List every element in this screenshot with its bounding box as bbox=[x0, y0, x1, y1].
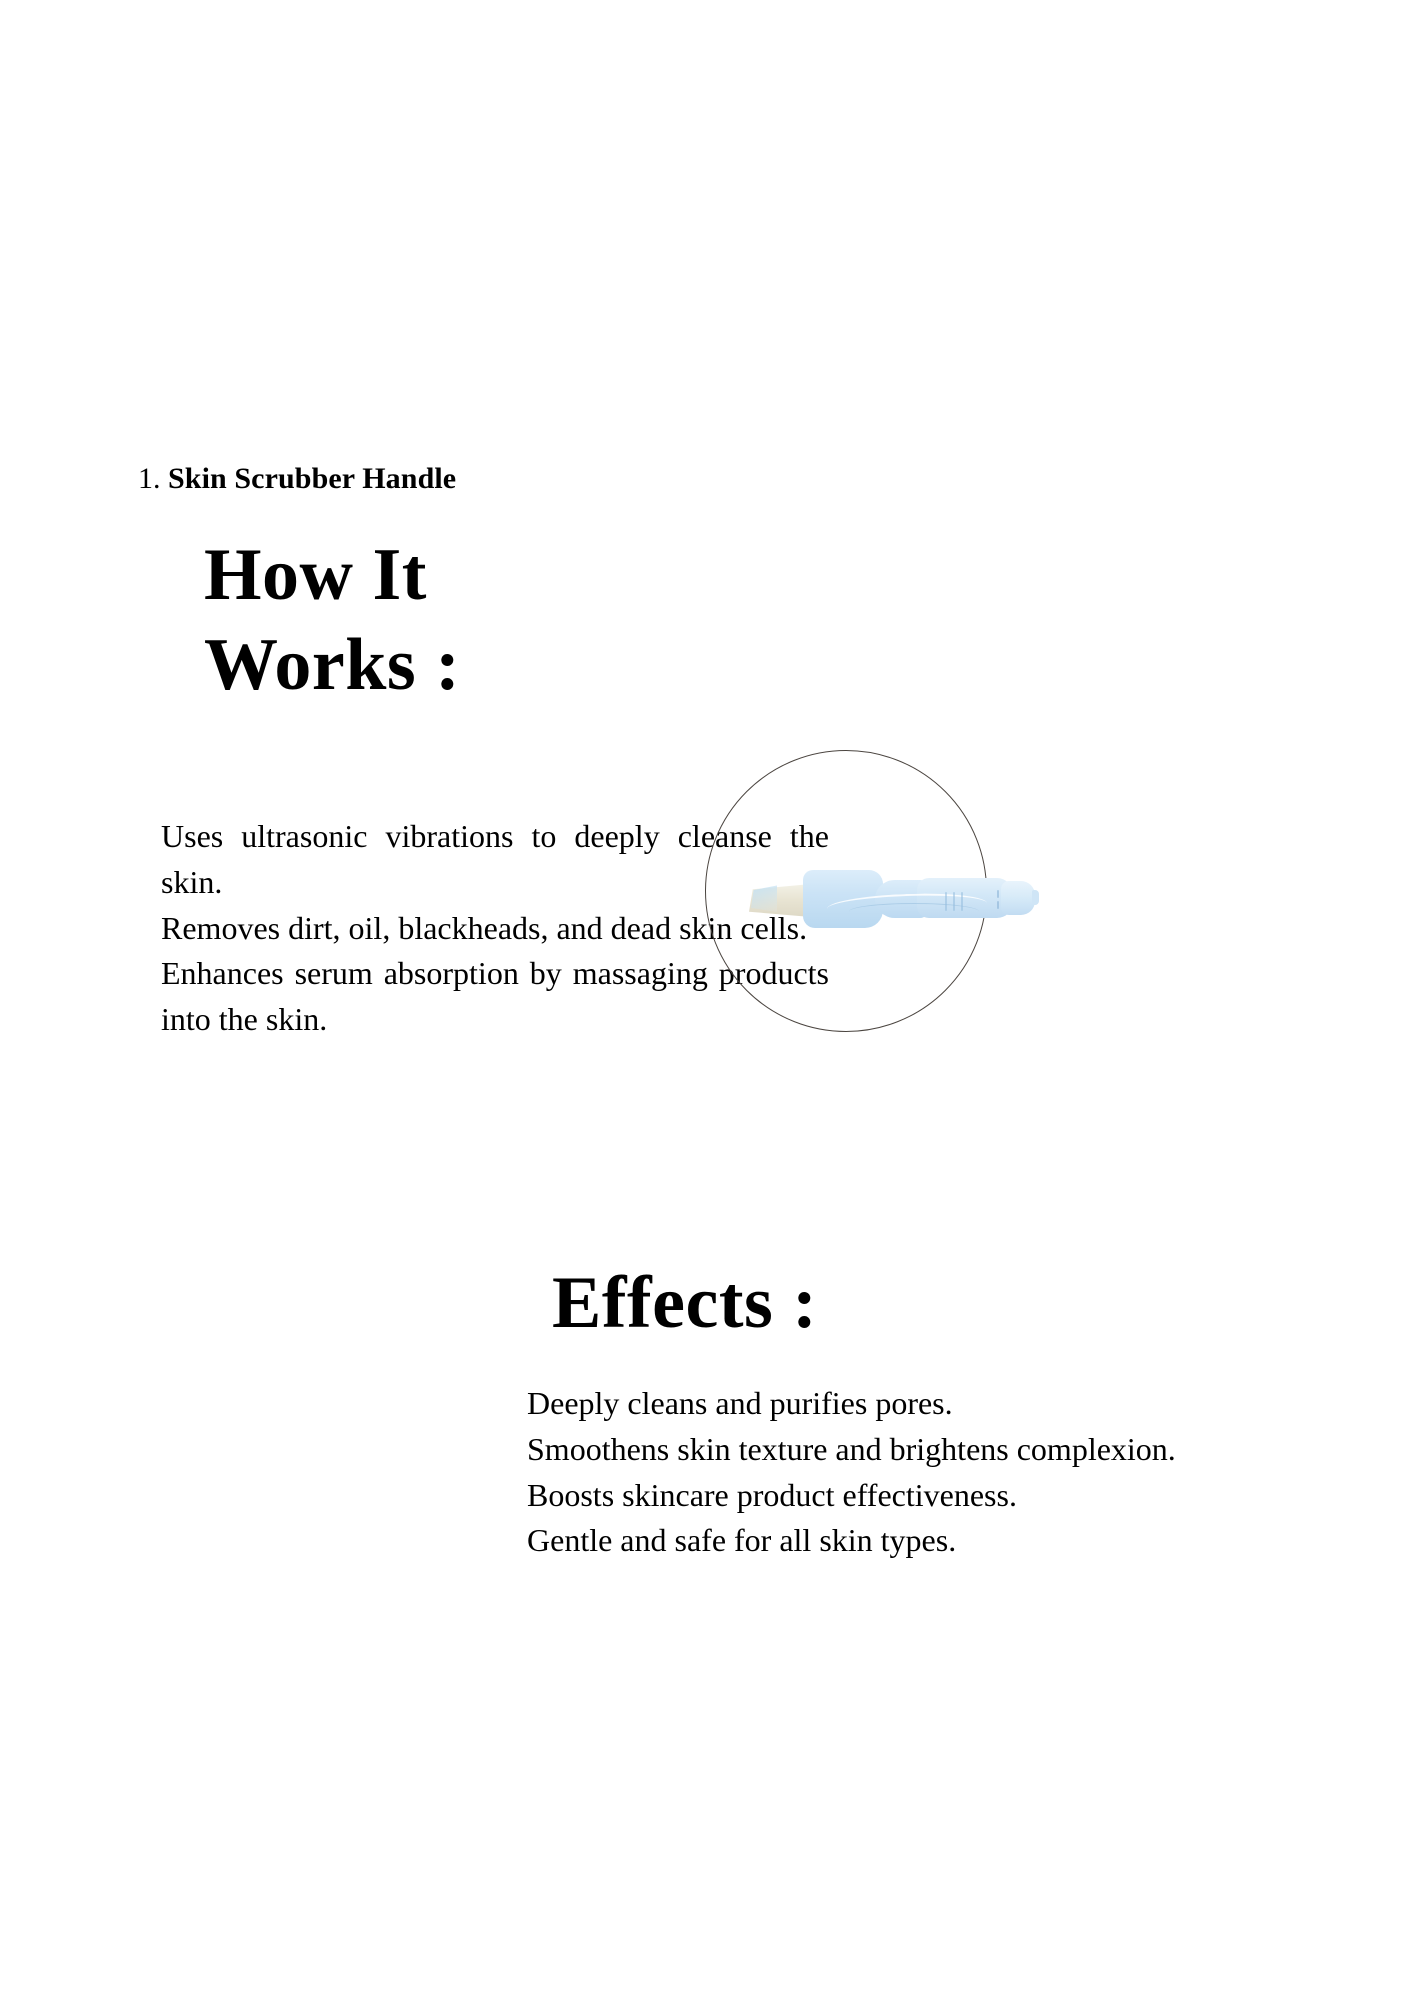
skin-scrubber-device-illustration bbox=[749, 870, 1039, 928]
effects-line: Gentle and safe for all skin types. bbox=[527, 1518, 1227, 1564]
device-end-tip bbox=[1032, 890, 1039, 905]
effects-line: Smoothens skin texture and brightens com… bbox=[527, 1427, 1227, 1473]
product-image-figure bbox=[705, 750, 987, 1032]
device-end-cap bbox=[1001, 881, 1035, 915]
device-ridge bbox=[953, 892, 955, 911]
device-ridge bbox=[961, 892, 963, 911]
device-seam bbox=[997, 901, 999, 909]
how-it-works-title: How It Works : bbox=[204, 530, 514, 711]
section-heading: 1. Skin Scrubber Handle bbox=[138, 462, 456, 495]
effects-line: Deeply cleans and purifies pores. bbox=[527, 1381, 1227, 1427]
section-number: 1. bbox=[138, 462, 161, 495]
device-shadow-line bbox=[849, 903, 979, 920]
document-page: 1. Skin Scrubber Handle How It Works : U… bbox=[0, 0, 1414, 2000]
effects-line: Boosts skincare product effectiveness. bbox=[527, 1473, 1227, 1519]
effects-body: Deeply cleans and purifies pores. Smooth… bbox=[527, 1381, 1227, 1564]
effects-title: Effects : bbox=[552, 1258, 972, 1348]
section-title: Skin Scrubber Handle bbox=[168, 462, 456, 495]
device-ridge bbox=[945, 892, 947, 911]
device-seam bbox=[997, 890, 999, 898]
